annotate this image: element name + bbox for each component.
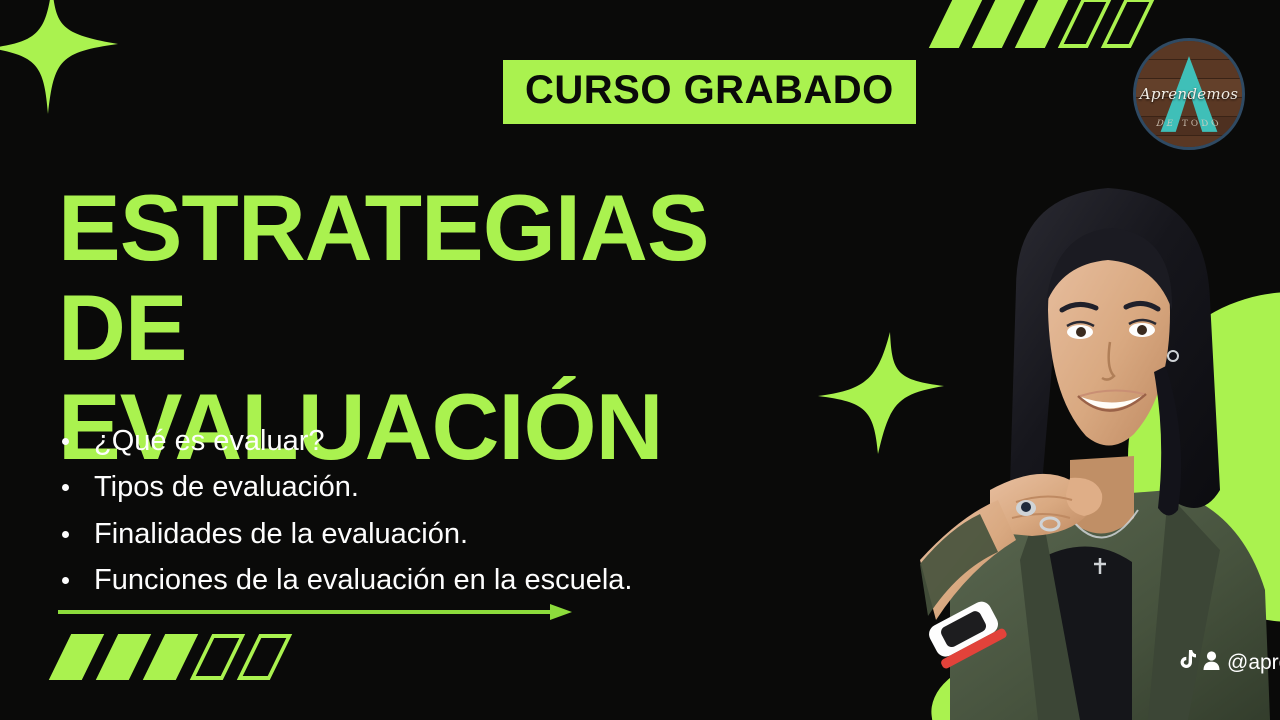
- list-item-label: ¿Qué es evaluar?: [94, 425, 325, 457]
- title-line-1: ESTRATEGIAS DE: [58, 178, 818, 377]
- presenter-portrait: [920, 160, 1280, 720]
- logo-brand-subtitle: DE TODO: [1133, 120, 1244, 129]
- diagonal-slash: [190, 634, 245, 680]
- arrow-right-icon: [56, 602, 576, 622]
- diagonal-slash: [972, 0, 1026, 48]
- logo-brand-name: Aprendemos: [1136, 85, 1242, 103]
- brand-logo-badge[interactable]: Aprendemos DE TODO: [1133, 38, 1245, 150]
- social-handle-text: @apre: [1227, 651, 1280, 675]
- topic-list: ¿Qué es evaluar? Tipos de evaluación. Fi…: [56, 418, 632, 604]
- list-item: Funciones de la evaluación en la escuela…: [56, 557, 632, 603]
- diagonal-slash: [929, 0, 983, 48]
- social-handle[interactable]: @apre: [1178, 650, 1280, 676]
- decorative-slashes-bottom-left: [60, 634, 295, 680]
- list-item-label: Finalidades de la evaluación.: [94, 518, 468, 550]
- promo-poster: Aprendemos DE TODO CURSO GRABADO ESTRATE…: [0, 0, 1280, 720]
- list-item-label: Funciones de la evaluación en la escuela…: [94, 564, 632, 596]
- list-item-label: Tipos de evaluación.: [94, 471, 359, 503]
- diagonal-slash: [143, 634, 198, 680]
- diagonal-slash: [237, 634, 292, 680]
- list-item: ¿Qué es evaluar?: [56, 418, 632, 464]
- diagonal-slash: [96, 634, 151, 680]
- person-icon: [1203, 651, 1220, 676]
- diagonal-slash: [1015, 0, 1069, 48]
- list-item: Finalidades de la evaluación.: [56, 511, 632, 557]
- tiktok-icon: [1178, 650, 1196, 676]
- course-type-badge: CURSO GRABADO: [503, 60, 916, 124]
- diagonal-slash: [49, 634, 104, 680]
- decorative-slashes-top-right: [941, 0, 1156, 48]
- diagonal-slash: [1058, 0, 1112, 48]
- list-item: Tipos de evaluación.: [56, 464, 632, 510]
- sparkle-icon: [0, 0, 120, 114]
